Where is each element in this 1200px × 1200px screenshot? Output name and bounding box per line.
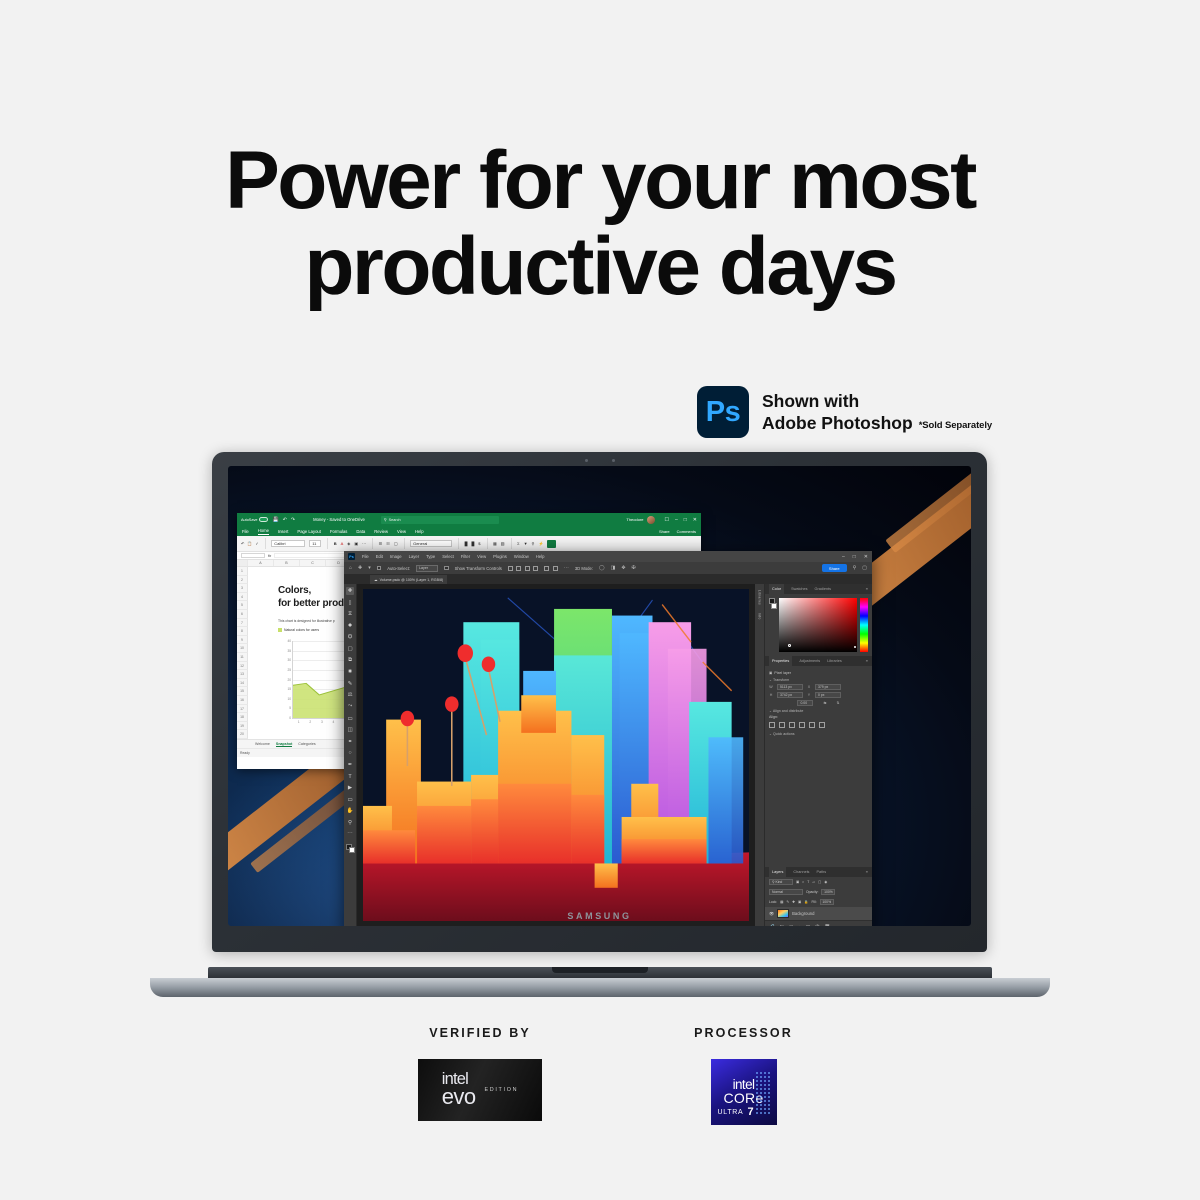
headline-line-2: productive days	[0, 226, 1200, 308]
lock-position-icon[interactable]: ✚	[792, 900, 795, 904]
foreground-background-color[interactable]	[346, 844, 355, 853]
align-sublabel: Align:	[769, 715, 868, 719]
minimize-icon[interactable]: –	[675, 517, 678, 523]
pixel-layer-icon: ▣	[769, 671, 772, 675]
properties-panel[interactable]: ▣ Pixel layer ⌄ Transform W 5113 px X 37…	[765, 666, 872, 741]
y-tick: 0	[289, 716, 291, 720]
search-icon[interactable]: ⚲	[853, 565, 857, 571]
comments-button[interactable]: Comments	[677, 529, 696, 534]
column-header[interactable]: C	[300, 560, 326, 566]
borders-icon[interactable]: ▣	[354, 541, 358, 546]
lock-transparent-icon[interactable]: ▩	[780, 900, 783, 904]
auto-select-label: Auto-Select:	[387, 566, 410, 571]
panel-menu-icon[interactable]: ≡	[866, 870, 868, 874]
photoshop-options-bar: ⌂ ✚ ▾ Auto-Select: Layer Show Transform …	[344, 562, 872, 575]
menu-type[interactable]: Type	[426, 554, 435, 559]
filter-type-icon[interactable]: T	[807, 880, 809, 884]
align-center-horizontal-icon[interactable]	[516, 566, 521, 571]
photoshop-toolbar[interactable]: ✚ ▯ ⧖ ✹ ⏣ ▢ ⧉ ✸ ✎ ⚖ ⤳ ▭ ◫ ⚭ ○	[344, 584, 357, 926]
headline-line-1: Power for your most	[225, 135, 975, 226]
y-tick: 20	[287, 678, 291, 682]
excel-ribbon-tabs: File Home Insert Page Layout Formulas Da…	[237, 526, 701, 536]
align-buttons[interactable]	[508, 566, 539, 571]
row-header[interactable]: 16	[237, 696, 248, 705]
user-account[interactable]: Theodore	[626, 516, 654, 524]
chart-legend: Natural colors for users	[278, 628, 319, 632]
new-layer-icon[interactable]: ⨁	[815, 924, 819, 926]
laptop-latch-notch	[552, 967, 648, 973]
new-group-icon[interactable]: ◫	[806, 924, 810, 926]
tab-gradients[interactable]: Gradients	[815, 587, 831, 591]
path-select-tool-icon[interactable]: ▶	[346, 784, 354, 792]
type-tool-icon[interactable]: T	[346, 773, 354, 781]
autosave-toggle[interactable]: AutoSave	[241, 517, 268, 522]
document-tab[interactable]: ☁ Volume.psdc @ 100% (Layer 1, RGB/8)	[370, 575, 447, 584]
align-left-icon[interactable]	[508, 566, 513, 571]
y-tick: 5	[289, 706, 291, 710]
blend-mode-select[interactable]: Normal	[769, 889, 803, 895]
align-left-icon[interactable]: ☰	[379, 541, 383, 546]
layers-panel-tabs: Layers Channels Paths ≡	[765, 867, 872, 877]
format-painter-icon[interactable]: ✓	[255, 541, 258, 546]
wrap-text-icon[interactable]: ▢	[394, 541, 398, 546]
auto-select-checkbox[interactable]	[377, 566, 382, 571]
more-tools-icon[interactable]: ⋯	[346, 830, 354, 838]
sort-filter-icon[interactable]: ▼	[524, 541, 528, 546]
fill-color-icon[interactable]: ◈	[347, 541, 350, 546]
share-button[interactable]: Share	[822, 564, 847, 572]
distribute-horizontal-icon[interactable]	[553, 566, 558, 571]
row-header[interactable]: 12	[237, 662, 248, 671]
photoshop-window[interactable]: Ps File Edit Image Layer Type Select Fil…	[344, 551, 872, 926]
home-icon[interactable]: ⌂	[349, 565, 352, 571]
roll-3d-icon[interactable]: ◨	[611, 565, 616, 571]
column-header[interactable]: B	[274, 560, 300, 566]
row-header[interactable]: 19	[237, 722, 248, 731]
tab-properties[interactable]: Properties	[769, 656, 792, 666]
worksheet-heading-line-1: Colors,	[278, 585, 350, 598]
menu-layer[interactable]: Layer	[409, 554, 419, 559]
pen-tool-icon[interactable]: ✒	[346, 761, 354, 769]
history-brush-tool-icon[interactable]: ⤳	[346, 703, 354, 711]
y-tick: 30	[287, 658, 291, 662]
bold-button[interactable]: B	[334, 541, 337, 546]
opacity-label: Opacity:	[806, 890, 818, 894]
webcam	[578, 459, 622, 462]
row-header[interactable]: 5	[237, 601, 248, 610]
tab-view[interactable]: View	[397, 529, 406, 534]
processor-label: PROCESSOR	[646, 1026, 841, 1040]
tab-data[interactable]: Data	[356, 529, 365, 534]
tab-formulas[interactable]: Formulas	[330, 529, 347, 534]
column-header[interactable]: A	[248, 560, 274, 566]
flip-vertical-icon[interactable]: ⇅	[837, 701, 840, 705]
more-options-icon[interactable]: ⋯	[564, 565, 569, 571]
workspace-icon[interactable]: ▢	[862, 565, 867, 571]
lock-image-icon[interactable]: ✎	[786, 900, 789, 904]
y-tick: 10	[287, 697, 291, 701]
laptop-bottom-chassis	[150, 978, 1050, 997]
tab-adjustments[interactable]: Adjustments	[799, 659, 820, 663]
color-cursor-secondary	[854, 646, 857, 649]
excel-title-bar: AutoSave 💾 ↶ ↷ Money - Saved to OneDrive…	[237, 513, 701, 526]
gradient-tool-icon[interactable]: ◫	[346, 726, 354, 734]
x-tick: 2	[309, 720, 311, 724]
quick-actions-label[interactable]: ⌄ Quick actions	[769, 732, 868, 736]
x-tick: 4	[333, 720, 335, 724]
width-input[interactable]: 5113 px	[777, 684, 803, 690]
sheet-tab-snapshot[interactable]: Snapshot	[276, 742, 292, 747]
height-input[interactable]: 3742 px	[777, 692, 803, 698]
row-header[interactable]: 2	[237, 576, 248, 585]
autosave-label: AutoSave	[241, 518, 257, 522]
verified-by-badge: VERIFIED BY intel evo EDITION	[380, 1026, 580, 1121]
transform-section-label[interactable]: ⌄ Transform	[769, 678, 868, 682]
link-layers-icon[interactable]: 🔗	[769, 924, 774, 926]
user-name: Theodore	[626, 517, 643, 522]
x-tick: 1	[298, 720, 300, 724]
row-header[interactable]: 8	[237, 627, 248, 636]
x-label: X	[807, 685, 811, 689]
move-tool-icon[interactable]: ✚	[346, 587, 354, 595]
flip-horizontal-icon[interactable]: ⇆	[823, 701, 826, 705]
tab-layers[interactable]: Layers	[769, 867, 786, 877]
tab-page-layout[interactable]: Page Layout	[297, 529, 321, 534]
row-header[interactable]: 9	[237, 636, 248, 645]
tab-insert[interactable]: Insert	[278, 529, 288, 534]
find-select-icon[interactable]: ⚲	[532, 541, 535, 546]
ps-badge-disclaimer: *Sold Separately	[919, 420, 992, 434]
rectangular-marquee-tool-icon[interactable]: ▯	[346, 599, 354, 607]
color-picker[interactable]	[765, 594, 872, 656]
blur-tool-icon[interactable]: ⚭	[346, 738, 354, 746]
currency-icon[interactable]: $	[478, 541, 480, 546]
evo-wordmark: evo	[442, 1087, 476, 1107]
color-swatches[interactable]	[769, 598, 776, 609]
panel-menu-icon[interactable]: ≡	[866, 587, 868, 591]
tab-channels[interactable]: Channels	[793, 870, 809, 874]
distribute-buttons[interactable]	[544, 566, 558, 571]
menu-window[interactable]: Window	[514, 554, 529, 559]
crop-tool-icon[interactable]: ⏣	[346, 633, 354, 641]
row-header[interactable]: 10	[237, 644, 248, 653]
x-input[interactable]: 379 px	[815, 684, 841, 690]
adobe-photoshop-badge: Ps Shown with Adobe Photoshop *Sold Sepa…	[697, 386, 992, 438]
distribute-vertical-icon[interactable]	[544, 566, 549, 571]
align-section-label[interactable]: ⌄ Align and distribute	[769, 709, 868, 713]
document-icon: ☁	[374, 578, 378, 582]
number-format-select[interactable]: General	[410, 540, 452, 547]
legend-swatch	[278, 628, 282, 632]
photoshop-icon: Ps	[697, 386, 749, 438]
dodge-tool-icon[interactable]: ○	[346, 749, 354, 757]
y-label: Y	[807, 693, 811, 697]
tab-file[interactable]: File	[242, 529, 249, 534]
document-tab-label: Volume.psdc @ 100% (Layer 1, RGB/8)	[380, 578, 444, 582]
autosum-icon[interactable]: Σ	[517, 541, 519, 546]
chevron-down-icon[interactable]: ▾	[368, 565, 371, 571]
filter-shape-icon[interactable]: ▱	[812, 880, 815, 884]
photoshop-right-rail[interactable]: Libraries Info	[755, 584, 764, 926]
align-right-edges-icon[interactable]	[819, 722, 825, 728]
eraser-tool-icon[interactable]: ▭	[346, 715, 354, 723]
photoshop-canvas-area[interactable]: 100% Doc: 34.9M/34.9M ▸	[357, 584, 755, 926]
tab-swatches[interactable]: Swatches	[791, 587, 807, 591]
slide-3d-icon[interactable]: ✠	[632, 565, 636, 571]
ultra-label: ULTRA	[718, 1109, 744, 1116]
brush-tool-icon[interactable]: ✎	[346, 680, 354, 688]
page-title: Power for your most productive days	[0, 140, 1200, 308]
menu-file[interactable]: File	[362, 554, 369, 559]
ps-badge-line-2: Adobe Photoshop	[762, 412, 913, 434]
filter-smart-icon[interactable]: ▢	[818, 880, 821, 884]
paste-button[interactable]: 📋	[247, 541, 252, 546]
row-header[interactable]: 3	[237, 584, 248, 593]
search-icon: ⚲	[384, 517, 387, 522]
y-tick: 35	[287, 649, 291, 653]
format-as-table-icon[interactable]: ▧	[501, 541, 505, 546]
processor-number: 7	[747, 1106, 753, 1118]
brand-logo: SAMSUNG	[228, 911, 971, 921]
font-name-select[interactable]: Calibri	[271, 540, 305, 547]
row-header[interactable]: 17	[237, 705, 248, 714]
lock-all-icon[interactable]: 🔒	[804, 900, 808, 904]
close-icon[interactable]: ✕	[864, 554, 868, 560]
layer-filter-select[interactable]: ⚲ Kind	[769, 879, 793, 885]
minimize-icon[interactable]: –	[842, 554, 845, 560]
laptop-lid: AutoSave 💾 ↶ ↷ Money - Saved to OneDrive…	[212, 452, 987, 952]
photoshop-icon: Ps	[348, 553, 355, 560]
menu-help[interactable]: Help	[536, 554, 545, 559]
canvas-artwork[interactable]	[363, 589, 749, 921]
undo-icon[interactable]: ↶	[283, 517, 287, 523]
eyedropper-tool-icon[interactable]: ⧉	[346, 657, 354, 665]
comma-style-icon[interactable]: █	[471, 541, 474, 546]
auto-select-scope-select[interactable]: Layer	[416, 565, 438, 572]
row-header[interactable]: 13	[237, 670, 248, 679]
object-select-tool-icon[interactable]: ✹	[346, 622, 354, 630]
transform-label: Transform	[773, 678, 789, 682]
laptop-screen: AutoSave 💾 ↶ ↷ Money - Saved to OneDrive…	[228, 466, 971, 926]
shape-tool-icon[interactable]: ▭	[346, 796, 354, 804]
layer-filter-label: Kind	[775, 880, 782, 884]
font-color-icon[interactable]: A	[341, 541, 344, 546]
properties-panel-tabs: Properties Adjustments Libraries ≡	[765, 656, 872, 666]
row-headers: 1 2 3 4 5 6 7 8 9 10 11 12 13	[237, 567, 248, 756]
tab-libraries[interactable]: Libraries	[827, 659, 842, 663]
menu-select[interactable]: Select	[442, 554, 454, 559]
tab-review[interactable]: Review	[374, 529, 388, 534]
x-tick: 3	[321, 720, 323, 724]
row-header[interactable]: 1	[237, 567, 248, 576]
more-font-options[interactable]: ⋯	[362, 541, 366, 546]
lock-nesting-icon[interactable]: ▣	[798, 900, 801, 904]
row-header[interactable]: 6	[237, 610, 248, 619]
row-header[interactable]: 15	[237, 687, 248, 696]
menu-edit[interactable]: Edit	[376, 554, 383, 559]
layer-type-label: Pixel layer	[774, 671, 791, 675]
close-icon[interactable]: ✕	[693, 517, 697, 523]
verified-by-label: VERIFIED BY	[380, 1026, 580, 1040]
align-horizontal-centers-icon[interactable]	[809, 722, 815, 728]
photoshop-panels[interactable]: Color Swatches Gradients ≡	[764, 584, 872, 926]
menu-filter[interactable]: Filter	[461, 554, 470, 559]
menu-image[interactable]: Image	[390, 554, 402, 559]
y-tick: 15	[287, 687, 291, 691]
y-tick: 40	[287, 639, 291, 643]
intel-evo-logo: intel evo EDITION	[418, 1059, 542, 1121]
sheet-tab-categories[interactable]: Categories	[298, 742, 315, 746]
filter-pixel-icon[interactable]: ▣	[796, 880, 799, 884]
merge-cells-icon[interactable]: ☷	[386, 541, 390, 546]
hand-tool-icon[interactable]: ✋	[346, 807, 354, 815]
info-rail-label[interactable]: Info	[758, 613, 762, 620]
mode-3d-label: 3D Mode:	[575, 566, 593, 571]
percent-style-icon[interactable]: █	[465, 541, 468, 546]
tab-home[interactable]: Home	[258, 528, 269, 535]
tab-paths[interactable]: Paths	[816, 870, 826, 874]
row-header[interactable]: 7	[237, 619, 248, 628]
color-field[interactable]	[779, 598, 857, 652]
row-header[interactable]: 14	[237, 679, 248, 688]
align-top-icon[interactable]	[533, 566, 538, 571]
row-header[interactable]: 20	[237, 730, 248, 739]
ps-badge-line-1: Shown with	[762, 390, 992, 412]
intel-wordmark: intel	[733, 1078, 755, 1092]
row-header[interactable]: 18	[237, 713, 248, 722]
menu-plugins[interactable]: Plugins	[493, 554, 507, 559]
undo-button[interactable]: ↶	[241, 541, 244, 546]
maximize-icon[interactable]: □	[853, 554, 856, 560]
frame-tool-icon[interactable]: ▢	[346, 645, 354, 653]
sheet-tab-welcome[interactable]: Welcome	[255, 742, 270, 746]
status-text: Ready	[240, 751, 250, 755]
avatar[interactable]	[647, 516, 655, 524]
align-vertical-centers-icon[interactable]	[779, 722, 785, 728]
row-header[interactable]: 11	[237, 653, 248, 662]
insert-function-icon[interactable]: fx	[268, 553, 271, 558]
laptop-base	[150, 967, 1050, 997]
name-box[interactable]	[241, 553, 265, 559]
font-size-select[interactable]: 11	[309, 540, 321, 547]
fill-label: Fill:	[811, 900, 816, 904]
laptop-device: AutoSave 💾 ↶ ↷ Money - Saved to OneDrive…	[150, 452, 1050, 997]
intel-core-ultra-logo: intel CORe ULTRA 7	[711, 1059, 777, 1125]
y-tick: 25	[287, 668, 291, 672]
tab-color[interactable]: Color	[769, 584, 784, 594]
angle-input[interactable]: 0.00	[797, 700, 813, 706]
quick-actions-text: Quick actions	[773, 732, 795, 736]
processor-badge: PROCESSOR intel CORe ULTRA 7	[646, 1026, 841, 1125]
share-button[interactable]: Share	[659, 529, 670, 534]
opacity-input[interactable]: 100%	[821, 889, 835, 895]
search-placeholder: Search	[389, 518, 401, 522]
lock-label: Lock:	[769, 900, 777, 904]
panel-menu-icon[interactable]: ≡	[866, 659, 868, 663]
color-cursor	[788, 644, 791, 647]
restore-icon[interactable]: ☐	[665, 517, 669, 523]
photoshop-status-bar: 100% Doc: 34.9M/34.9M ▸	[363, 924, 749, 926]
zoom-tool-icon[interactable]: ⚲	[346, 819, 354, 827]
libraries-rail-label[interactable]: Libraries	[758, 590, 762, 605]
move-tool-icon[interactable]: ✚	[358, 565, 362, 571]
row-header[interactable]: 4	[237, 593, 248, 602]
delete-layer-icon[interactable]: 🗑	[824, 924, 830, 926]
add-ins-icon[interactable]	[547, 540, 556, 548]
align-right-icon[interactable]	[525, 566, 530, 571]
redo-icon[interactable]: ↷	[291, 517, 295, 523]
autosave-switch[interactable]	[259, 517, 268, 522]
conditional-formatting-icon[interactable]: ▦	[493, 541, 497, 546]
document-title[interactable]: Money - Saved to OneDrive	[313, 517, 365, 522]
align-left-edges-icon[interactable]	[799, 722, 805, 728]
align-distribute-label: Align and distribute	[773, 709, 804, 713]
photoshop-menu-bar: Ps File Edit Image Layer Type Select Fil…	[344, 551, 872, 562]
photoshop-document-tabs: ☁ Volume.psdc @ 100% (Layer 1, RGB/8)	[344, 575, 872, 584]
spot-healing-tool-icon[interactable]: ✸	[346, 668, 354, 676]
save-icon[interactable]: 💾	[272, 517, 278, 523]
analyze-data-icon[interactable]: ⚡	[538, 541, 543, 546]
align-icon-row[interactable]	[769, 722, 868, 728]
show-transform-controls-label: Show Transform Controls	[455, 566, 502, 571]
search-input[interactable]: ⚲ Search	[381, 516, 499, 524]
height-label: H	[769, 693, 773, 697]
align-bottom-edges-icon[interactable]	[789, 722, 795, 728]
legend-label: Natural colors for users	[284, 628, 319, 632]
chart-caption: This chart is designed for illustrative …	[278, 619, 335, 624]
layer-style-icon[interactable]: ƒx	[779, 924, 784, 926]
select-all-corner[interactable]	[237, 560, 248, 566]
worksheet-heading: Colors, for better produ	[278, 585, 350, 611]
layer-mask-icon[interactable]: ▢	[789, 924, 793, 926]
hue-slider[interactable]	[860, 598, 868, 652]
lasso-tool-icon[interactable]: ⧖	[346, 610, 354, 618]
pan-3d-icon[interactable]: ✥	[621, 565, 625, 571]
excel-ribbon: ↶ 📋 ✓ Calibri 11 B A ◈ ▣ ⋯ ☰ ☷	[237, 536, 701, 552]
worksheet-heading-line-2: for better produ	[278, 598, 350, 611]
y-input[interactable]: 0 px	[815, 692, 841, 698]
color-panel-tabs: Color Swatches Gradients ≡	[765, 584, 872, 594]
filter-adjustment-icon[interactable]: ◐	[802, 880, 804, 884]
search-icon: ⚲	[772, 880, 774, 884]
orbit-3d-icon[interactable]: ◯	[599, 565, 605, 571]
show-transform-controls-checkbox[interactable]	[444, 566, 449, 571]
fill-input[interactable]: 100%	[820, 899, 834, 905]
filter-toggle-icon[interactable]: ◉	[824, 880, 827, 884]
align-top-edges-icon[interactable]	[769, 722, 775, 728]
adjustment-layer-icon[interactable]: ◐	[798, 924, 801, 926]
dot-pattern	[755, 1071, 771, 1115]
edition-label: EDITION	[484, 1087, 518, 1093]
tab-help[interactable]: Help	[415, 529, 424, 534]
clone-stamp-tool-icon[interactable]: ⚖	[346, 691, 354, 699]
width-label: W	[769, 685, 773, 689]
menu-view[interactable]: View	[477, 554, 486, 559]
maximize-icon[interactable]: □	[684, 517, 687, 523]
